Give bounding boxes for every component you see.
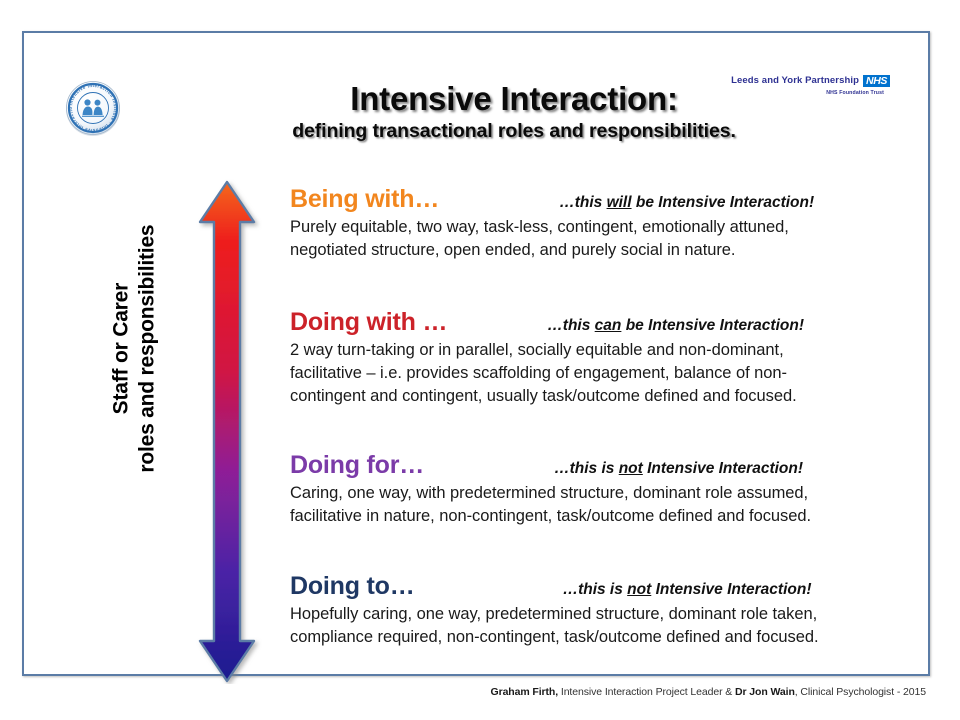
tagline-prefix: …this is bbox=[554, 460, 619, 477]
section-title: Doing for… bbox=[290, 451, 424, 481]
section-header-row: Doing for… …this is not Intensive Intera… bbox=[290, 451, 930, 481]
tagline-suffix: Intensive Interaction! bbox=[651, 581, 811, 598]
body-line: Caring, one way, with predetermined stru… bbox=[290, 482, 930, 505]
tagline-emphasis: can bbox=[595, 317, 622, 334]
gradient-double-arrow bbox=[196, 179, 262, 684]
footer-credit: Graham Firth, Intensive Interaction Proj… bbox=[0, 686, 926, 698]
section-title: Doing to… bbox=[290, 572, 415, 602]
tagline-emphasis: will bbox=[607, 194, 632, 211]
section-header-row: Being with… …this will be Intensive Inte… bbox=[290, 185, 930, 215]
tagline-prefix: …this bbox=[559, 194, 606, 211]
badge-icon: Intensive Interaction Institute · Intens… bbox=[60, 75, 126, 141]
section-tagline: …this is not Intensive Interaction! bbox=[563, 581, 812, 599]
section-body: Caring, one way, with predetermined stru… bbox=[290, 482, 930, 529]
section-body: Purely equitable, two way, task-less, co… bbox=[290, 216, 930, 263]
tagline-suffix: Intensive Interaction! bbox=[643, 460, 803, 477]
page-subtitle: defining transactional roles and respons… bbox=[134, 120, 894, 143]
title-block: Intensive Interaction: defining transact… bbox=[134, 81, 894, 143]
body-line: Purely equitable, two way, task-less, co… bbox=[290, 216, 930, 239]
tagline-suffix: be Intensive Interaction! bbox=[621, 317, 804, 334]
footer-role-1: Intensive Interaction Project Leader & bbox=[558, 686, 735, 698]
section-doing-to: Doing to… …this is not Intensive Interac… bbox=[290, 572, 930, 649]
axis-label-line-2: roles and responsibilities bbox=[134, 179, 160, 519]
section-being-with: Being with… …this will be Intensive Inte… bbox=[290, 185, 930, 262]
footer-author-2: Dr Jon Wain bbox=[735, 686, 795, 698]
section-title: Being with… bbox=[290, 185, 439, 215]
body-line: 2 way turn-taking or in parallel, social… bbox=[290, 339, 930, 362]
body-line: negotiated structure, open ended, and pu… bbox=[290, 239, 930, 262]
section-header-row: Doing to… …this is not Intensive Interac… bbox=[290, 572, 930, 602]
section-tagline: …this can be Intensive Interaction! bbox=[547, 317, 804, 335]
section-header-row: Doing with … …this can be Intensive Inte… bbox=[290, 308, 930, 338]
tagline-prefix: …this is bbox=[563, 581, 628, 598]
section-tagline: …this is not Intensive Interaction! bbox=[554, 460, 803, 478]
footer-role-2: , Clinical Psychologist - 2015 bbox=[795, 686, 926, 698]
tagline-emphasis: not bbox=[619, 460, 643, 477]
body-line: compliance required, non-contingent, tas… bbox=[290, 626, 930, 649]
footer-author-1: Graham Firth, bbox=[491, 686, 559, 698]
section-tagline: …this will be Intensive Interaction! bbox=[559, 194, 814, 212]
page-title: Intensive Interaction: bbox=[134, 81, 894, 117]
body-line: facilitative in nature, non-contingent, … bbox=[290, 505, 930, 528]
body-line: contingent and contingent, usually task/… bbox=[290, 385, 930, 408]
axis-label-staff-carer: Staff or Carer roles and responsibilitie… bbox=[108, 179, 159, 519]
body-line: facilitative – i.e. provides scaffolding… bbox=[290, 362, 930, 385]
body-line: Hopefully caring, one way, predetermined… bbox=[290, 603, 930, 626]
tagline-suffix: be Intensive Interaction! bbox=[632, 194, 815, 211]
intensive-interaction-logo: Intensive Interaction Institute · Intens… bbox=[60, 75, 126, 141]
tagline-emphasis: not bbox=[627, 581, 651, 598]
slide-frame: Intensive Interaction Institute · Intens… bbox=[22, 31, 930, 676]
section-doing-for: Doing for… …this is not Intensive Intera… bbox=[290, 451, 930, 528]
axis-label-line-1: Staff or Carer bbox=[108, 179, 134, 519]
tagline-prefix: …this bbox=[547, 317, 594, 334]
double-arrow-icon bbox=[196, 179, 262, 684]
section-doing-with: Doing with … …this can be Intensive Inte… bbox=[290, 308, 930, 409]
section-body: Hopefully caring, one way, predetermined… bbox=[290, 603, 930, 650]
section-title: Doing with … bbox=[290, 308, 447, 338]
section-body: 2 way turn-taking or in parallel, social… bbox=[290, 339, 930, 409]
